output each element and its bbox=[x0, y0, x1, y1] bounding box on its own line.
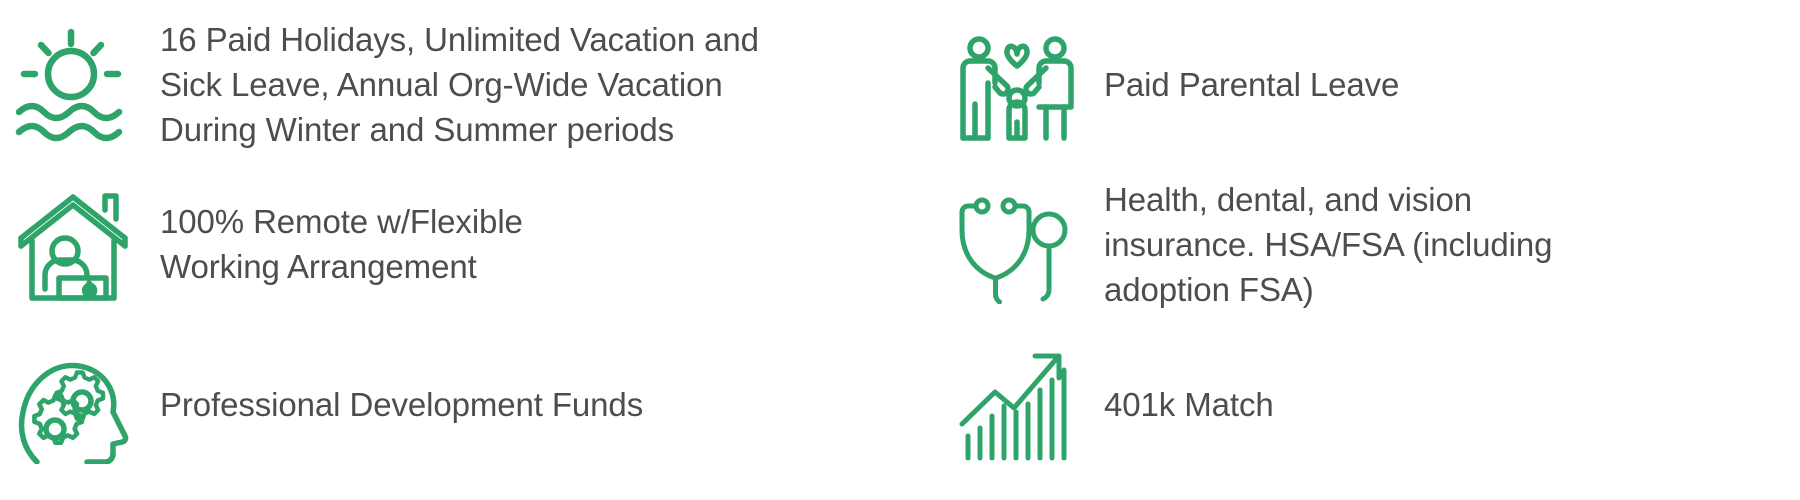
benefits-grid: 16 Paid Holidays, Unlimited Vacation and… bbox=[0, 0, 1800, 500]
benefit-label: 401k Match bbox=[1104, 382, 1274, 427]
growth-chart-arrow-icon bbox=[952, 339, 1082, 469]
benefit-label: 100% Remote w/Flexible Working Arrangeme… bbox=[160, 199, 523, 289]
benefit-item-professional-development: Professional Development Funds bbox=[0, 324, 940, 484]
benefit-item-health-insurance: Health, dental, and vision insurance. HS… bbox=[940, 164, 1800, 324]
sun-over-water-icon bbox=[8, 19, 138, 149]
head-with-gears-icon bbox=[8, 339, 138, 469]
benefit-label: Paid Parental Leave bbox=[1104, 62, 1399, 107]
benefit-label: Professional Development Funds bbox=[160, 382, 643, 427]
house-remote-worker-icon bbox=[8, 179, 138, 309]
benefit-item-paid-holidays: 16 Paid Holidays, Unlimited Vacation and… bbox=[0, 4, 940, 164]
benefit-item-parental-leave: Paid Parental Leave bbox=[940, 4, 1800, 164]
benefit-item-remote-work: 100% Remote w/Flexible Working Arrangeme… bbox=[0, 164, 940, 324]
stethoscope-icon bbox=[952, 179, 1082, 309]
benefit-label: 16 Paid Holidays, Unlimited Vacation and… bbox=[160, 17, 759, 152]
family-with-heart-icon bbox=[952, 19, 1082, 149]
benefit-item-401k-match: 401k Match bbox=[940, 324, 1800, 484]
benefit-label: Health, dental, and vision insurance. HS… bbox=[1104, 177, 1552, 312]
